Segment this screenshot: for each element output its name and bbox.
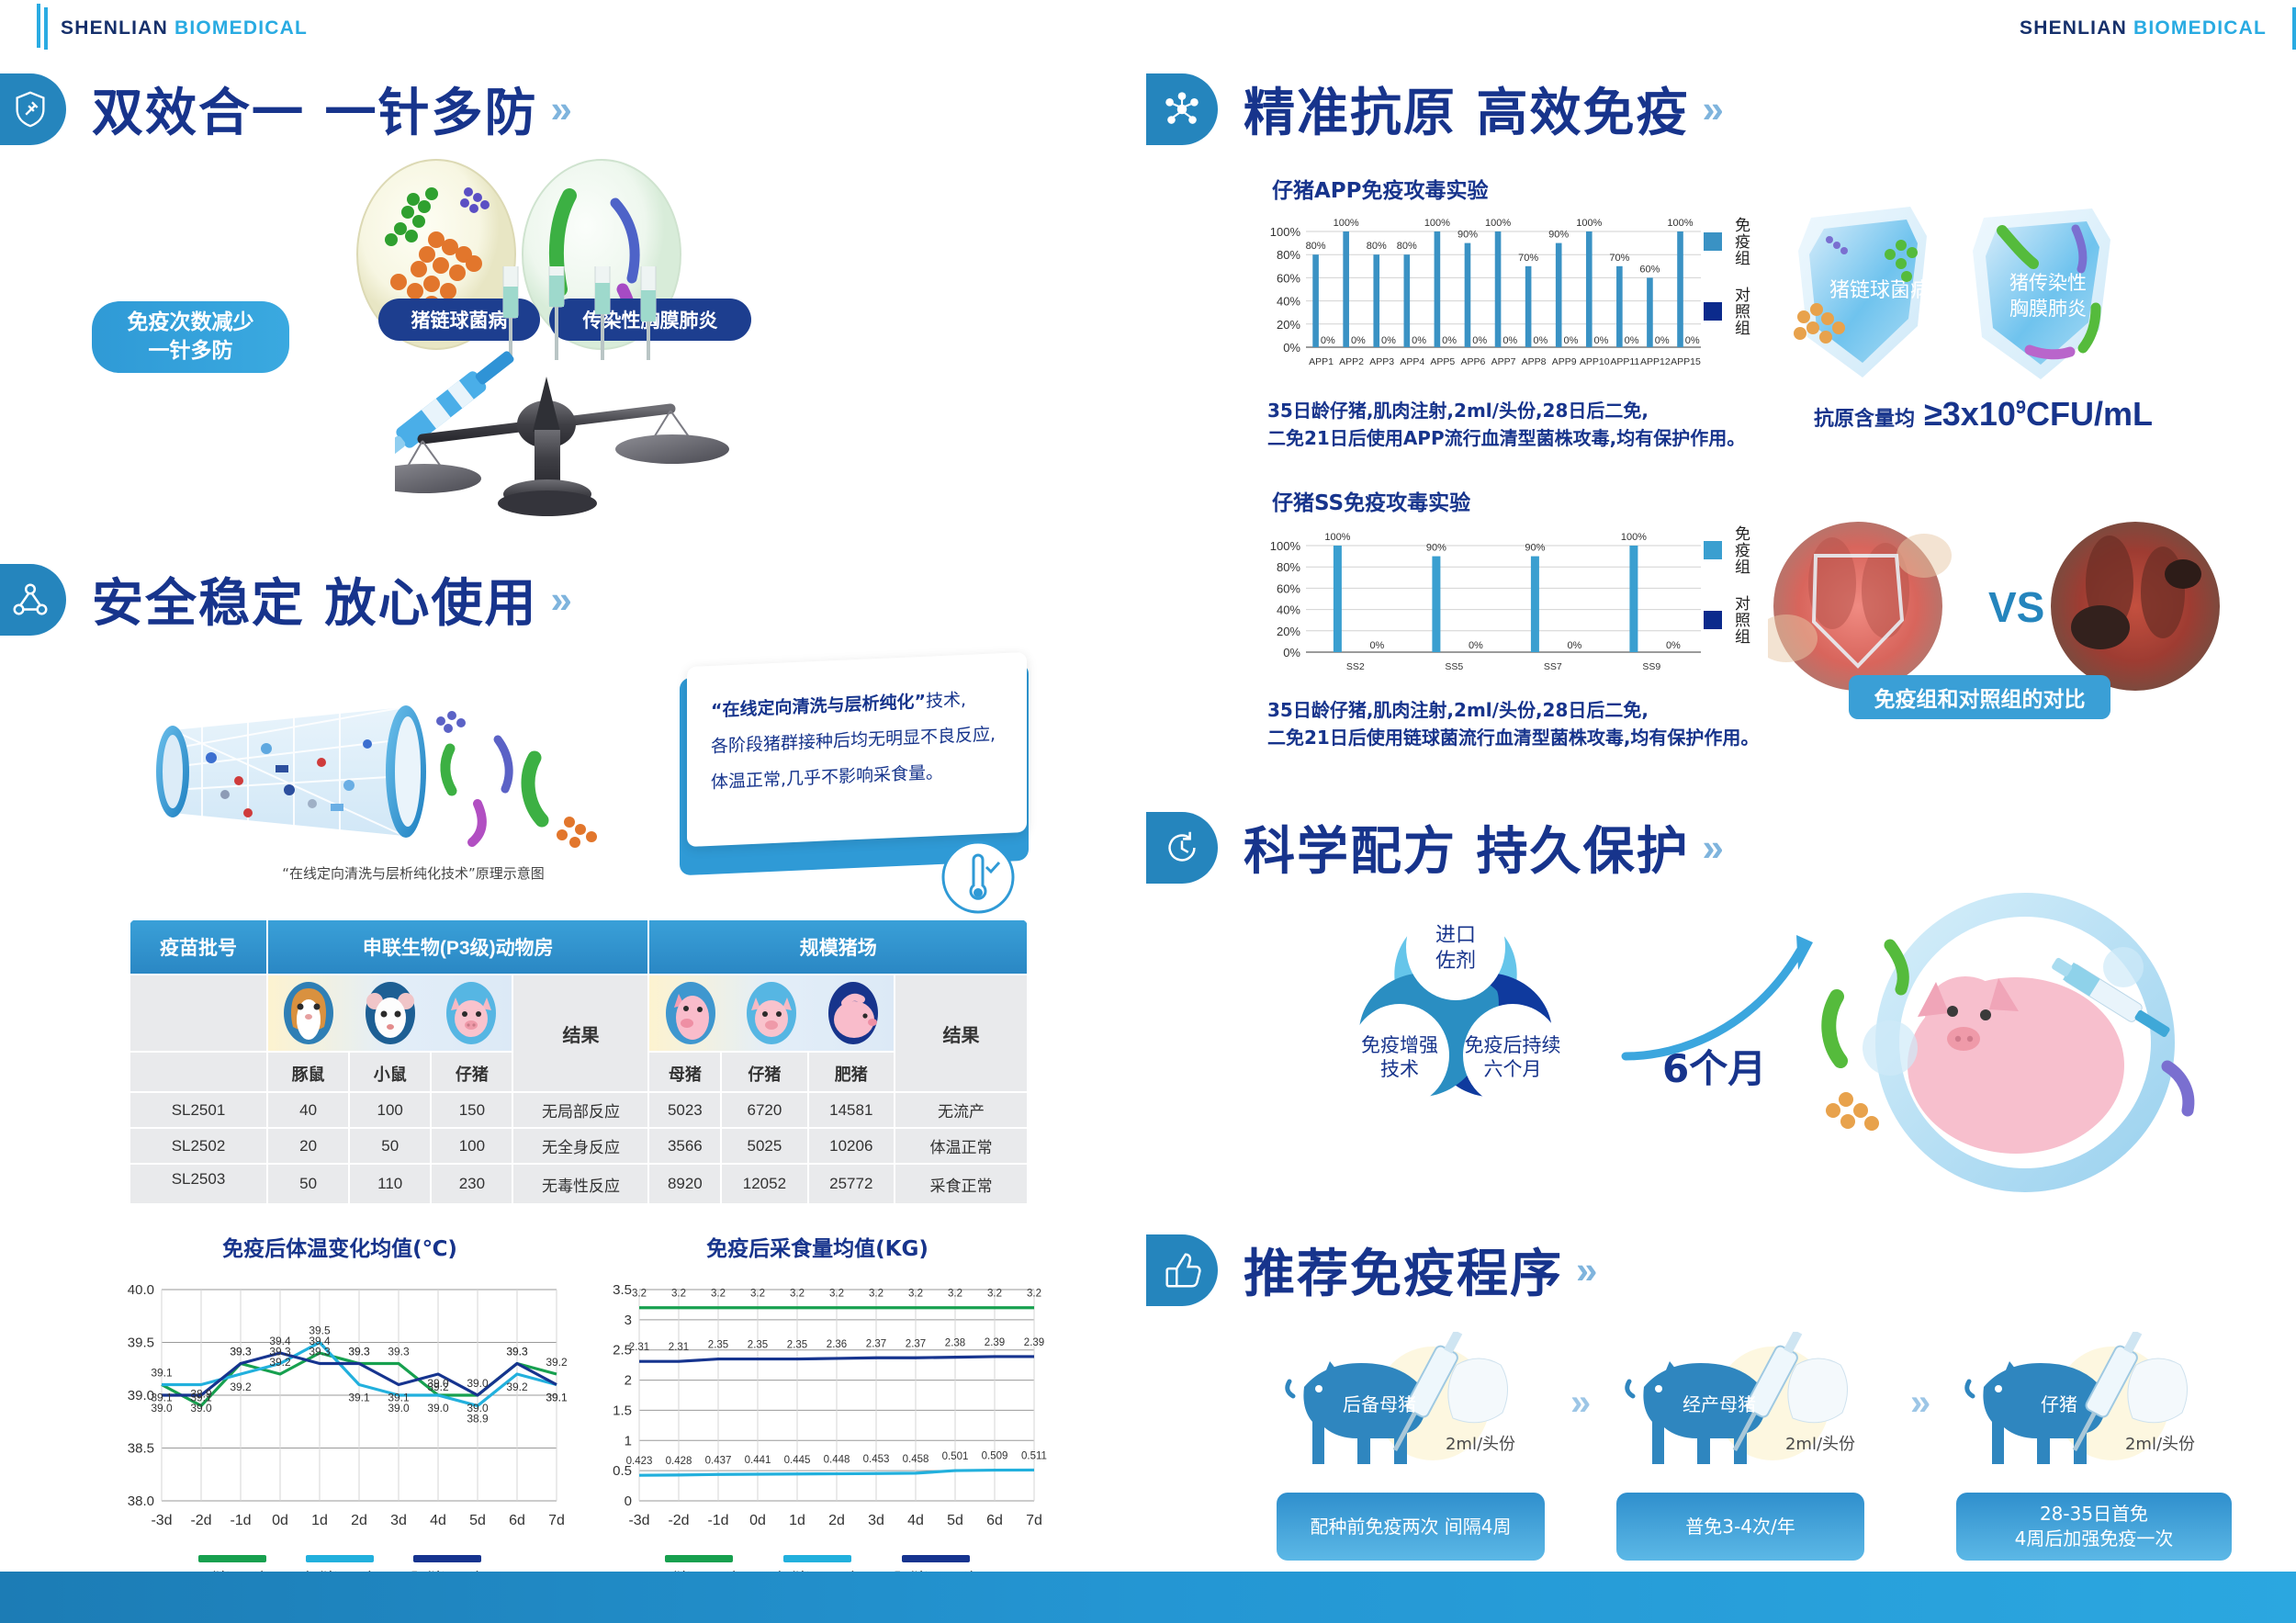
svg-text:0%: 0% [1321, 335, 1335, 346]
pig-syringe-icon: 后备母猪 2ml/头份 [1277, 1332, 1552, 1488]
svg-text:38.0: 38.0 [128, 1493, 154, 1509]
table-icon-row: 结果 [129, 975, 1028, 1052]
svg-text:0%: 0% [1533, 335, 1548, 346]
svg-text:0%: 0% [1381, 335, 1396, 346]
svg-text:4d: 4d [907, 1513, 924, 1528]
molecule-dots-icon [1146, 73, 1218, 145]
svg-text:APP11: APP11 [1610, 356, 1639, 367]
lab-animal-icons [267, 975, 512, 1052]
node-top-line1: 进口 [1435, 924, 1476, 947]
svg-text:0%: 0% [1472, 335, 1487, 346]
svg-text:80%: 80% [1277, 560, 1300, 574]
svg-text:-3d: -3d [151, 1513, 172, 1528]
svg-text:APP8: APP8 [1522, 356, 1547, 367]
svg-text:2d: 2d [828, 1513, 845, 1528]
cell-lab-0: 40 [267, 1092, 349, 1128]
svg-text:39.0: 39.0 [190, 1402, 212, 1414]
brand-logo-left: SHENLIAN BIOMEDICAL [44, 7, 308, 50]
svg-text:APP1: APP1 [1309, 356, 1334, 367]
svg-text:1: 1 [625, 1433, 632, 1448]
svg-text:0.428: 0.428 [666, 1456, 692, 1467]
svg-text:0.423: 0.423 [626, 1456, 653, 1467]
trefoil-diagram: 进口 佐剂 免疫增强 技术 免疫后持续 六个月 [1272, 886, 1639, 1189]
section-title: 安全稳定 放心使用 [92, 562, 538, 637]
svg-text:3.2: 3.2 [869, 1289, 884, 1300]
svg-text:60%: 60% [1639, 264, 1660, 275]
cell-farm-result: 采食正常 [895, 1164, 1028, 1204]
svg-text:-1d: -1d [707, 1513, 728, 1528]
svg-text:APP12: APP12 [1640, 356, 1671, 367]
svg-text:5d: 5d [469, 1513, 486, 1528]
svg-text:-2d: -2d [668, 1513, 689, 1528]
svg-text:0.437: 0.437 [705, 1455, 732, 1466]
svg-text:40%: 40% [1277, 603, 1300, 617]
svg-text:0%: 0% [1283, 646, 1300, 659]
svg-text:3: 3 [625, 1313, 632, 1328]
cell-lab-0: 50 [267, 1164, 349, 1204]
legend-item: 免疫组 [1704, 217, 1752, 266]
chevron-icon: » [1703, 87, 1724, 131]
svg-text:40.0: 40.0 [128, 1282, 154, 1298]
svg-text:3.2: 3.2 [790, 1289, 805, 1300]
svg-text:0%: 0% [1412, 335, 1426, 346]
svg-text:-3d: -3d [628, 1513, 649, 1528]
svg-text:90%: 90% [1426, 543, 1446, 554]
svg-text:100%: 100% [1667, 218, 1693, 229]
node-right-line2: 六个月 [1484, 1058, 1542, 1080]
svg-text:2.31: 2.31 [669, 1342, 689, 1353]
shield-label-1: 猪链球菌病 [1829, 279, 1930, 302]
step-animal-label: 仔猪 [2041, 1393, 2077, 1415]
svg-text:2.31: 2.31 [629, 1342, 649, 1353]
svg-text:0%: 0% [1351, 335, 1366, 346]
cell-farm-1: 5025 [721, 1128, 807, 1164]
chart-title: 免疫后体温变化均值(℃) [110, 1231, 569, 1262]
svg-text:0.501: 0.501 [942, 1451, 969, 1462]
svg-text:0%: 0% [1369, 640, 1384, 651]
svg-text:0.453: 0.453 [863, 1454, 890, 1465]
logo-accent-bar [2292, 7, 2296, 50]
svg-text:1.5: 1.5 [613, 1403, 632, 1418]
svg-text:100%: 100% [1424, 218, 1450, 229]
svg-text:39.1: 39.1 [151, 1367, 173, 1380]
brand-name-secondary: BIOMEDICAL [2133, 17, 2267, 39]
section-title: 精准抗原 高效免疫 [1244, 72, 1690, 146]
svg-text:100%: 100% [1621, 532, 1647, 543]
table-group-farm: 规模猪场 [648, 919, 1028, 975]
svg-text:100%: 100% [1576, 218, 1602, 229]
svg-text:0%: 0% [1503, 335, 1517, 346]
brand-name-primary: SHENLIAN [2020, 17, 2127, 39]
cell-farm-0: 5023 [648, 1092, 721, 1128]
svg-text:39.4: 39.4 [269, 1335, 291, 1347]
thumbs-up-icon [1146, 1234, 1218, 1306]
clock-arrow-icon [1146, 812, 1218, 884]
svg-text:100%: 100% [1324, 532, 1350, 543]
svg-text:3d: 3d [390, 1513, 407, 1528]
svg-text:39.5: 39.5 [309, 1324, 331, 1337]
svg-text:0%: 0% [1685, 335, 1700, 346]
svg-text:3.2: 3.2 [711, 1289, 726, 1300]
program-step-2: 经产母猪 2ml/头份 普免3-4次/年 [1616, 1332, 1892, 1561]
piglet-icon [745, 979, 798, 1047]
section-header-antigen: 精准抗原 高效免疫 » [1146, 72, 1724, 146]
piglet-icon [445, 979, 498, 1047]
svg-text:0%: 0% [1666, 640, 1681, 651]
svg-text:39.1: 39.1 [388, 1392, 410, 1404]
svg-text:39.3: 39.3 [506, 1346, 528, 1358]
pig-injection-illustration [1782, 886, 2259, 1199]
balance-scale-illustration [395, 266, 909, 542]
cell-lab-result: 无毒性反应 [512, 1164, 648, 1204]
logo-accent-bar [44, 7, 48, 50]
svg-text:2d: 2d [351, 1513, 367, 1528]
cell-farm-1: 6720 [721, 1092, 807, 1128]
svg-text:APP9: APP9 [1552, 356, 1577, 367]
svg-text:39.0: 39.0 [467, 1377, 489, 1390]
table-header-row: 疫苗批号 申联生物(P3级)动物房 规模猪场 [129, 919, 1028, 975]
svg-text:39.2: 39.2 [506, 1381, 528, 1393]
svg-text:APP6: APP6 [1460, 356, 1485, 367]
step-arrow-icon: » [1570, 1382, 1591, 1424]
svg-text:0d: 0d [749, 1513, 766, 1528]
svg-text:3.2: 3.2 [987, 1289, 1002, 1300]
step-note: 配种前免疫两次 间隔4周 [1277, 1493, 1545, 1561]
brand-name-secondary: BIOMEDICAL [174, 17, 308, 39]
step-animal-label: 经产母猪 [1683, 1393, 1756, 1415]
bubble-line1-rest: 技术, [926, 690, 966, 712]
cell-lab-1: 110 [349, 1164, 431, 1204]
svg-text:-2d: -2d [190, 1513, 211, 1528]
svg-text:100%: 100% [1270, 225, 1301, 239]
svg-text:3.2: 3.2 [948, 1289, 962, 1300]
step-animal-label: 后备母猪 [1343, 1393, 1416, 1415]
svg-text:6d: 6d [986, 1513, 1003, 1528]
svg-text:0%: 0% [1283, 341, 1300, 355]
table-col-batch: 疫苗批号 [129, 919, 267, 975]
brand-logo-right: SHENLIAN BIOMEDICAL [2020, 7, 2296, 50]
svg-text:39.3: 39.3 [230, 1346, 252, 1358]
cfu-statement: 抗原含量均 ≥3x109CFU/mL [1814, 395, 2153, 434]
svg-text:80%: 80% [1306, 241, 1326, 252]
cell-farm-result: 体温正常 [895, 1128, 1028, 1164]
svg-text:SS9: SS9 [1642, 661, 1660, 672]
svg-text:APP2: APP2 [1339, 356, 1364, 367]
svg-text:2.39: 2.39 [985, 1337, 1005, 1348]
thermometer-check-icon [928, 827, 1029, 928]
program-step-3: 仔猪 2ml/头份 28-35日首免 4周后加强免疫一次 [1956, 1332, 2232, 1561]
cell-farm-2: 14581 [808, 1092, 895, 1128]
svg-text:20%: 20% [1277, 318, 1300, 332]
chevron-icon: » [551, 578, 572, 622]
svg-text:0%: 0% [1469, 640, 1483, 651]
cfu-unit: CFU/mL [2026, 395, 2153, 433]
svg-text:0d: 0d [272, 1513, 288, 1528]
table-row: SL2502 20 50 100 无全身反应 3566 5025 10206 体… [129, 1128, 1028, 1164]
svg-text:80%: 80% [1397, 241, 1417, 252]
speech-bubble: “在线定向清洗与层析纯化”技术, 各阶段猪群接种后均无明显不良反应, 体温正常,… [687, 652, 1027, 847]
cell-lab-2: 230 [431, 1164, 512, 1204]
svg-text:0.509: 0.509 [982, 1451, 1008, 1462]
app-chart-title: 仔猪APP免疫攻毒实验 [1272, 173, 1489, 204]
ss-challenge-chart: 0%20%40%60%80%100%100%0%SS290%0%SS590%0%… [1258, 524, 1708, 680]
chevron-icon: » [1576, 1248, 1597, 1292]
pig-syringe-icon: 经产母猪 2ml/头份 [1616, 1332, 1892, 1488]
mouse-icon [364, 979, 417, 1047]
svg-text:3d: 3d [868, 1513, 884, 1528]
svg-text:38.5: 38.5 [128, 1441, 154, 1457]
svg-text:APP7: APP7 [1491, 356, 1516, 367]
legend-item: 对照组 [1704, 595, 1752, 645]
farm-sub-0: 母猪 [648, 1052, 721, 1092]
svg-text:90%: 90% [1525, 543, 1545, 554]
svg-text:SS7: SS7 [1544, 661, 1562, 672]
cell-farm-2: 25772 [808, 1164, 895, 1204]
step-note: 28-35日首免 4周后加强免疫一次 [1956, 1493, 2232, 1561]
cfu-value: ≥3x10 [1924, 395, 2016, 433]
badge-fewer-immunizations: 免疫次数减少 一针多防 [92, 301, 289, 373]
section-title: 双效合一 一针多防 [92, 72, 538, 146]
legend-item: 对照组 [1704, 287, 1752, 336]
cell-lab-result: 无全身反应 [512, 1128, 648, 1164]
svg-text:3.5: 3.5 [613, 1282, 632, 1298]
ss-chart-legend: 免疫组 对照组 [1704, 525, 1752, 645]
ss-note: 35日龄仔猪,肌肉注射,2ml/头份,28日后二免, 二免21日后使用链球菌流行… [1267, 696, 1818, 751]
step-dose-label: 2ml/头份 [2125, 1435, 2195, 1454]
svg-text:0%: 0% [1594, 335, 1609, 346]
molecule-triangle-icon [0, 564, 66, 636]
svg-text:0.441: 0.441 [745, 1455, 771, 1466]
chevron-icon: » [1703, 826, 1724, 870]
app-chart-legend: 免疫组 对照组 [1704, 217, 1752, 336]
svg-text:2.39: 2.39 [1024, 1337, 1044, 1348]
chart-title: 免疫后采食量均值(KG) [588, 1231, 1047, 1262]
brand-name-primary: SHENLIAN [61, 17, 168, 39]
cell-lab-0: 20 [267, 1128, 349, 1164]
svg-text:1d: 1d [311, 1513, 328, 1528]
poster-page: SHENLIAN BIOMEDICAL SHENLIAN BIOMEDICAL … [0, 0, 2296, 1623]
pig-syringe-icon: 仔猪 2ml/头份 [1956, 1332, 2232, 1488]
svg-text:0%: 0% [1625, 335, 1639, 346]
svg-text:100%: 100% [1270, 539, 1301, 553]
section-header-program: 推荐免疫程序 » [1146, 1233, 1597, 1307]
svg-text:70%: 70% [1609, 253, 1629, 264]
guinea-pig-icon [282, 979, 335, 1047]
safety-trial-table: 疫苗批号 申联生物(P3级)动物房 规模猪场 [129, 919, 1029, 1205]
svg-text:2: 2 [625, 1373, 632, 1389]
feed-intake-plot: 00.511.522.533.5-3d-2d-1d0d1d2d3d4d5d6d7… [588, 1269, 1047, 1545]
svg-text:0%: 0% [1567, 640, 1581, 651]
svg-text:39.2: 39.2 [546, 1356, 568, 1369]
svg-text:SS5: SS5 [1445, 661, 1463, 672]
svg-text:3.2: 3.2 [632, 1289, 647, 1300]
farm-result-header: 结果 [895, 975, 1028, 1092]
section-title: 科学配方 持久保护 [1244, 810, 1690, 885]
cell-batch: SL2503 [129, 1164, 267, 1204]
svg-text:APP3: APP3 [1369, 356, 1394, 367]
section-header-dual-effect: 双效合一 一针多防 » [0, 72, 572, 146]
svg-text:100%: 100% [1334, 218, 1359, 229]
node-left-line2: 技术 [1380, 1058, 1419, 1080]
table-row: SL2503 50 110 230 无毒性反应 8920 12052 25772… [129, 1164, 1028, 1204]
shield-syringe-icon [0, 73, 66, 145]
svg-text:80%: 80% [1367, 241, 1387, 252]
lab-sub-2: 仔猪 [431, 1052, 512, 1092]
cell-farm-0: 8920 [648, 1164, 721, 1204]
cell-lab-1: 100 [349, 1092, 431, 1128]
step-dose-label: 2ml/头份 [1446, 1435, 1515, 1454]
svg-text:2.36: 2.36 [827, 1339, 847, 1350]
step-dose-label: 2ml/头份 [1785, 1435, 1855, 1454]
fat-pig-icon [827, 979, 880, 1047]
farm-sub-2: 肥猪 [808, 1052, 895, 1092]
svg-text:20%: 20% [1277, 625, 1300, 638]
section-header-formula: 科学配方 持久保护 » [1146, 810, 1724, 885]
svg-text:3.2: 3.2 [671, 1289, 686, 1300]
duration-label: 6个月 [1662, 1038, 1766, 1094]
svg-text:39.2: 39.2 [427, 1381, 449, 1393]
footer-bar [0, 1572, 2296, 1623]
svg-text:0%: 0% [1563, 335, 1578, 346]
cell-lab-2: 150 [431, 1092, 512, 1128]
table-row: SL2501 40 100 150 无局部反应 5023 6720 14581 … [129, 1092, 1028, 1128]
svg-text:2.35: 2.35 [708, 1340, 728, 1351]
svg-text:1d: 1d [789, 1513, 805, 1528]
svg-text:3.2: 3.2 [908, 1289, 923, 1300]
svg-text:7d: 7d [548, 1513, 565, 1528]
svg-text:0.448: 0.448 [824, 1455, 850, 1466]
svg-text:70%: 70% [1518, 253, 1538, 264]
shields-illustration: 猪链球菌病 猪传染性 胸膜肺炎 [1773, 197, 2259, 390]
svg-text:APP4: APP4 [1400, 356, 1424, 367]
node-left-line1: 免疫增强 [1361, 1034, 1438, 1056]
purification-diagram [138, 675, 615, 886]
cell-farm-result: 无流产 [895, 1092, 1028, 1128]
legend-item: 免疫组 [1704, 525, 1752, 575]
table-group-lab: 申联生物(P3级)动物房 [267, 919, 648, 975]
svg-text:0%: 0% [1442, 335, 1457, 346]
svg-text:APP10: APP10 [1580, 356, 1610, 367]
app-note: 35日龄仔猪,肌肉注射,2ml/头份,28日后二免, 二免21日后使用APP流行… [1267, 397, 1782, 452]
svg-text:APP15: APP15 [1671, 356, 1701, 367]
shield-label-2b: 胸膜肺炎 [2009, 298, 2087, 320]
svg-text:0%: 0% [1655, 335, 1670, 346]
header-left-rule [37, 4, 40, 48]
lab-sub-0: 豚鼠 [267, 1052, 349, 1092]
svg-text:39.3: 39.3 [309, 1346, 331, 1358]
temperature-chart: 免疫后体温变化均值(℃) 38.038.539.039.540.0-3d-2d-… [110, 1231, 569, 1591]
svg-text:39.2: 39.2 [230, 1381, 252, 1393]
cell-farm-1: 12052 [721, 1164, 807, 1204]
bubble-highlight: “在线定向清洗与层析纯化” [711, 692, 926, 721]
svg-text:3.2: 3.2 [829, 1289, 844, 1300]
svg-text:39.0: 39.0 [151, 1402, 173, 1414]
farm-sub-1: 仔猪 [721, 1052, 807, 1092]
svg-text:APP5: APP5 [1430, 356, 1455, 367]
temperature-plot: 38.038.539.039.540.0-3d-2d-1d0d1d2d3d4d5… [110, 1269, 569, 1545]
svg-text:39.0: 39.0 [467, 1402, 489, 1414]
svg-text:0.458: 0.458 [903, 1454, 929, 1465]
svg-text:2.37: 2.37 [866, 1338, 886, 1349]
svg-text:39.1: 39.1 [348, 1392, 370, 1404]
app-challenge-chart: 0%20%40%60%80%100%80%0%APP1100%0%APP280%… [1258, 209, 1708, 375]
svg-text:90%: 90% [1458, 230, 1478, 241]
purification-diagram-caption: “在线定向清洗与层析纯化技术”原理示意图 [211, 863, 615, 883]
svg-text:3.2: 3.2 [1027, 1289, 1041, 1300]
vs-label: VS [1988, 583, 2044, 631]
node-top-line2: 佐剂 [1435, 950, 1476, 973]
svg-text:SS2: SS2 [1346, 661, 1365, 672]
svg-text:90%: 90% [1548, 230, 1569, 241]
step-arrow-icon: » [1910, 1382, 1930, 1424]
svg-text:39.3: 39.3 [348, 1346, 370, 1358]
program-step-1: 后备母猪 2ml/头份 配种前免疫两次 间隔4周 [1277, 1332, 1552, 1561]
svg-text:2.35: 2.35 [748, 1340, 768, 1351]
section-header-safety: 安全稳定 放心使用 » [0, 562, 572, 637]
svg-text:80%: 80% [1277, 248, 1300, 262]
cell-batch: SL2501 [129, 1092, 267, 1128]
svg-text:0: 0 [625, 1493, 632, 1509]
svg-text:-1d: -1d [230, 1513, 251, 1528]
cell-batch: SL2502 [129, 1128, 267, 1164]
svg-text:7d: 7d [1026, 1513, 1042, 1528]
svg-text:2.38: 2.38 [945, 1338, 965, 1349]
svg-text:3.2: 3.2 [750, 1289, 765, 1300]
lung-comparison-caption: 免疫组和对照组的对比 [1849, 675, 2110, 719]
cell-lab-1: 50 [349, 1128, 431, 1164]
feed-intake-chart: 免疫后采食量均值(KG) 00.511.522.533.5-3d-2d-1d0d… [588, 1231, 1047, 1591]
section-title: 推荐免疫程序 [1244, 1233, 1563, 1307]
sow-icon [664, 979, 717, 1047]
svg-text:2.35: 2.35 [787, 1340, 807, 1351]
svg-text:4d: 4d [430, 1513, 446, 1528]
svg-text:39.1: 39.1 [546, 1392, 568, 1404]
cfu-exponent: 9 [2016, 398, 2026, 418]
svg-text:60%: 60% [1277, 271, 1300, 285]
svg-text:39.3: 39.3 [388, 1346, 410, 1358]
lab-sub-1: 小鼠 [349, 1052, 431, 1092]
node-right-line1: 免疫后持续 [1465, 1034, 1561, 1056]
cell-lab-result: 无局部反应 [512, 1092, 648, 1128]
cell-lab-2: 100 [431, 1128, 512, 1164]
cell-farm-2: 10206 [808, 1128, 895, 1164]
step-note: 普免3-4次/年 [1616, 1493, 1864, 1561]
farm-animal-icons [648, 975, 895, 1052]
ss-chart-title: 仔猪SS免疫攻毒实验 [1272, 485, 1470, 516]
svg-text:5d: 5d [947, 1513, 963, 1528]
svg-text:0.511: 0.511 [1021, 1450, 1047, 1461]
chevron-icon: » [551, 87, 572, 131]
lab-result-header: 结果 [512, 975, 648, 1092]
svg-text:60%: 60% [1277, 581, 1300, 595]
svg-text:2.37: 2.37 [906, 1338, 926, 1349]
cell-farm-0: 3566 [648, 1128, 721, 1164]
svg-text:39.5: 39.5 [128, 1336, 154, 1351]
svg-text:40%: 40% [1277, 295, 1300, 309]
svg-text:39.0: 39.0 [427, 1402, 449, 1414]
svg-text:100%: 100% [1485, 218, 1511, 229]
svg-text:0.445: 0.445 [784, 1455, 811, 1466]
svg-text:6d: 6d [509, 1513, 525, 1528]
shield-label-2a: 猪传染性 [2009, 272, 2087, 294]
